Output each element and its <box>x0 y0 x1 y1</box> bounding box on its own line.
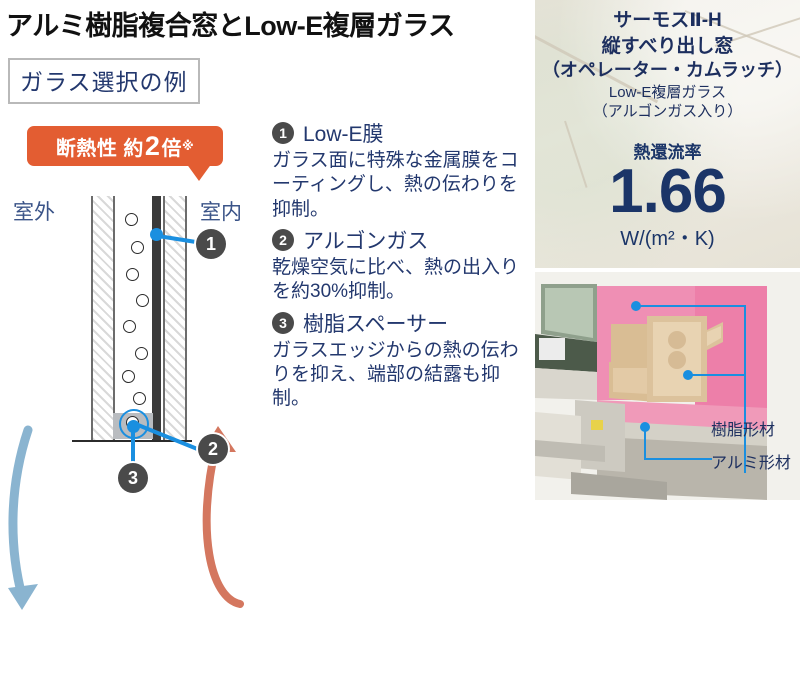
diagram-marker-2: 2 <box>198 434 228 464</box>
u-value-unit: W/(m²・K) <box>535 222 800 251</box>
feature-title-3: 樹脂スペーサー <box>303 308 448 338</box>
glass-panel-inner <box>545 288 593 338</box>
argon-gas-bubble <box>135 347 148 360</box>
callout-label-resin: 樹脂形材 <box>711 416 775 440</box>
callout-line-resin-vertical <box>744 305 746 473</box>
product-title-block: サーモスⅡ-H 縦すべり出し窓 （オペレーター・カムラッチ） Low-E複層ガラ… <box>535 8 800 122</box>
product-panel: サーモスⅡ-H 縦すべり出し窓 （オペレーター・カムラッチ） Low-E複層ガラ… <box>535 0 800 500</box>
feature-title-1: Low-E膜 <box>303 118 384 148</box>
argon-gas-bubble <box>136 294 149 307</box>
product-glass: Low-E複層ガラス <box>535 83 800 103</box>
frame-cutaway-photo: 樹脂形材 アルミ形材 <box>535 272 800 500</box>
badge-prefix: 断熱性 約 <box>56 132 144 161</box>
feature-heading-1: 1 Low-E膜 <box>272 118 530 148</box>
callout-label-aluminum: アルミ形材 <box>711 449 791 473</box>
insulation-badge: 断熱性 約2倍※ <box>27 126 223 166</box>
feature-body-2: 乾燥空気に比べ、熱の出入りを約30%抑制。 <box>272 256 530 305</box>
feature-title-2: アルゴンガス <box>303 225 428 255</box>
glass-cross-section-diagram: 1 2 3 <box>0 180 270 500</box>
outward-heat-arrow-shaft <box>13 430 28 596</box>
page-title: アルミ樹脂複合窓とLow‐E複層ガラス <box>6 4 536 43</box>
outer-glass-pane <box>91 196 115 440</box>
feature-body-1: ガラス面に特殊な金属膜をコーティングし、熱の伝わりを抑制。 <box>272 149 530 222</box>
feature-item-3: 3 樹脂スペーサー ガラスエッジからの熱の伝わりを抑え、端部の結露も抑制。 <box>272 308 530 412</box>
internal-hole-bottom <box>668 351 686 369</box>
argon-gas-bubble <box>122 370 135 383</box>
product-mechanism: （オペレーター・カムラッチ） <box>535 59 800 82</box>
internal-part-left-inner <box>613 368 649 394</box>
feature-item-1: 1 Low-E膜 ガラス面に特殊な金属膜をコーティングし、熱の伝わりを抑制。 <box>272 118 530 222</box>
argon-gas-bubble <box>133 392 146 405</box>
hardware-block <box>539 338 565 360</box>
feature-item-2: 2 アルゴンガス 乾燥空気に比べ、熱の出入りを約30%抑制。 <box>272 225 530 305</box>
feature-heading-2: 2 アルゴンガス <box>272 225 530 255</box>
feature-number-1: 1 <box>272 122 294 144</box>
feature-number-3: 3 <box>272 312 294 334</box>
product-name: サーモスⅡ-H <box>535 8 800 34</box>
heat-flow-arrows <box>0 360 270 680</box>
feature-heading-3: 3 樹脂スペーサー <box>272 308 530 338</box>
feature-list: 1 Low-E膜 ガラス面に特殊な金属膜をコーティングし、熱の伝わりを抑制。 2… <box>272 118 530 415</box>
argon-gas-bubble <box>123 320 136 333</box>
glass-frame-light <box>535 368 597 400</box>
badge-pointer-icon <box>186 163 212 181</box>
product-type: 縦すべり出し窓 <box>535 34 800 60</box>
u-value-block: 熱還流率 1.66 W/(m²・K) <box>535 138 800 251</box>
argon-gas-bubble <box>126 268 139 281</box>
internal-part-mid <box>611 324 647 364</box>
seal-marker <box>591 420 603 430</box>
badge-note: ※ <box>182 139 194 153</box>
outward-heat-arrow-head <box>8 584 38 610</box>
internal-hole-top <box>668 331 686 349</box>
feature-number-2: 2 <box>272 229 294 251</box>
diagram-marker-1: 1 <box>196 229 226 259</box>
inward-heat-arrow-shaft <box>207 446 240 604</box>
feature-body-3: ガラスエッジからの熱の伝わりを抑え、端部の結露も抑制。 <box>272 339 530 412</box>
infographic-root: アルミ樹脂複合窓とLow‐E複層ガラス ガラス選択の例 断熱性 約2倍※ 室外 … <box>0 0 800 500</box>
argon-gas-bubble <box>131 241 144 254</box>
product-glass-sub: （アルゴンガス入り） <box>535 102 800 122</box>
inner-glass-pane <box>163 196 187 440</box>
badge-suffix: 倍 <box>161 132 182 161</box>
u-value-number: 1.66 <box>535 163 800 222</box>
callout-line-aluminum <box>644 458 712 460</box>
argon-gas-bubble <box>125 213 138 226</box>
callout-line-resin-upper <box>636 305 746 307</box>
callout-line-resin-lower <box>688 374 746 376</box>
example-label-box: ガラス選択の例 <box>8 58 200 104</box>
diagram-marker-3: 3 <box>118 463 148 493</box>
badge-value: 2 <box>144 133 162 160</box>
insulation-badge-text: 断熱性 約2倍※ <box>27 126 223 166</box>
example-label-text: ガラス選択の例 <box>20 69 188 95</box>
callout-line-aluminum-vertical <box>644 427 646 459</box>
